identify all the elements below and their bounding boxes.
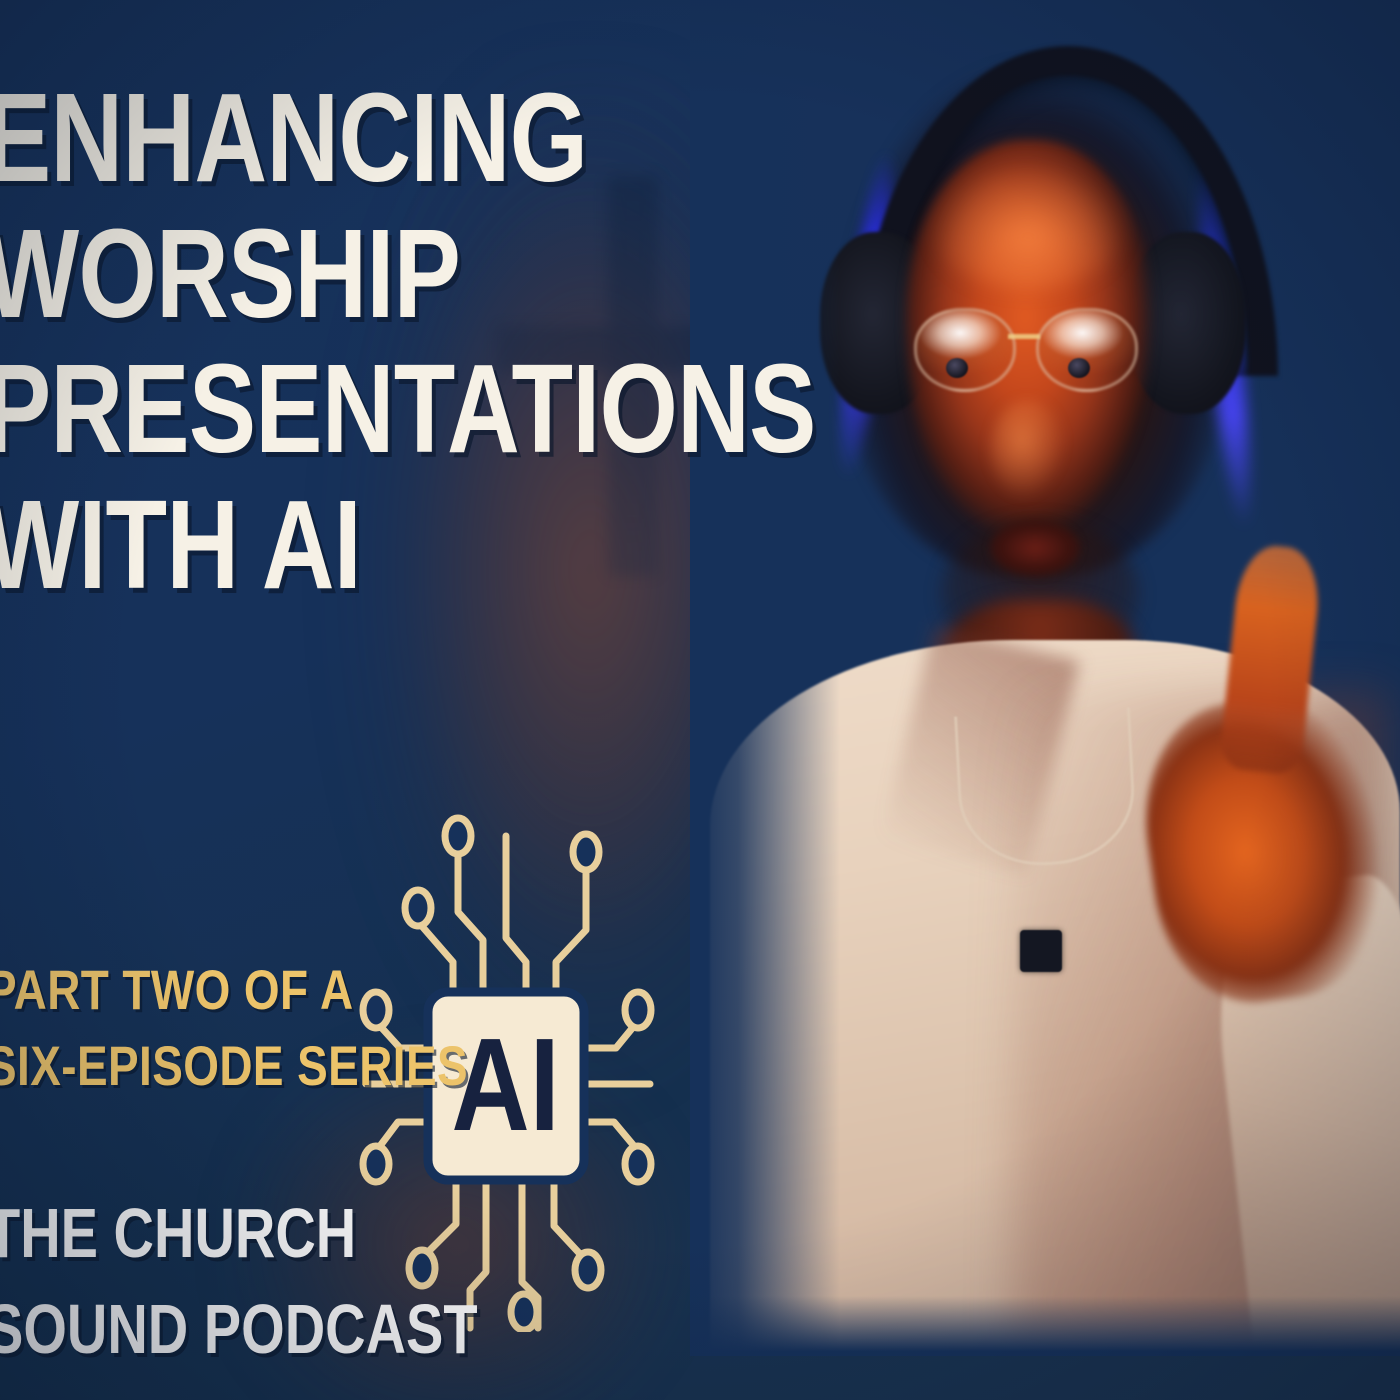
podcast-line-2: SOUND PODCAST xyxy=(0,1294,482,1364)
podcast-line-1: THE CHURCH xyxy=(0,1198,482,1268)
circuit-nodes-top xyxy=(405,818,599,926)
photo-mouth xyxy=(990,520,1080,576)
eye-right xyxy=(1068,358,1090,378)
podcast-name: THE CHURCH SOUND PODCAST xyxy=(0,1198,606,1390)
title-line-2: WORSHIP xyxy=(0,214,544,334)
necklace-pendant xyxy=(1020,930,1062,972)
title-line-1: ENHANCING xyxy=(0,78,544,198)
subtitle-line-2: SIX-EPISODE SERIES xyxy=(0,1038,478,1094)
title-line-3: PRESENTATIONS xyxy=(0,349,544,469)
subtitle-line-1: PART TWO OF A xyxy=(0,962,478,1018)
eyeglasses-icon xyxy=(908,300,1158,410)
page-title: ENHANCING WORSHIP PRESENTATIONS WITH AI xyxy=(0,78,684,621)
photo-bottom-fade xyxy=(690,1296,1400,1356)
photo-left-fade xyxy=(690,0,840,1356)
series-subtitle: PART TWO OF A SIX-EPISODE SERIES xyxy=(0,962,586,1114)
host-photo xyxy=(690,0,1400,1356)
eyeglass-lens-right xyxy=(1036,308,1138,392)
podcast-cover-art: AI ENHANCING WORSHIP PRESENTATIONS WITH … xyxy=(0,0,1400,1400)
photo-forehead-highlight xyxy=(928,160,1128,290)
eye-left xyxy=(946,358,968,378)
eyeglass-bridge xyxy=(1008,334,1040,339)
title-line-4: WITH AI xyxy=(0,485,544,605)
eyeglass-lens-left xyxy=(914,308,1016,392)
photo-nose xyxy=(990,400,1066,500)
